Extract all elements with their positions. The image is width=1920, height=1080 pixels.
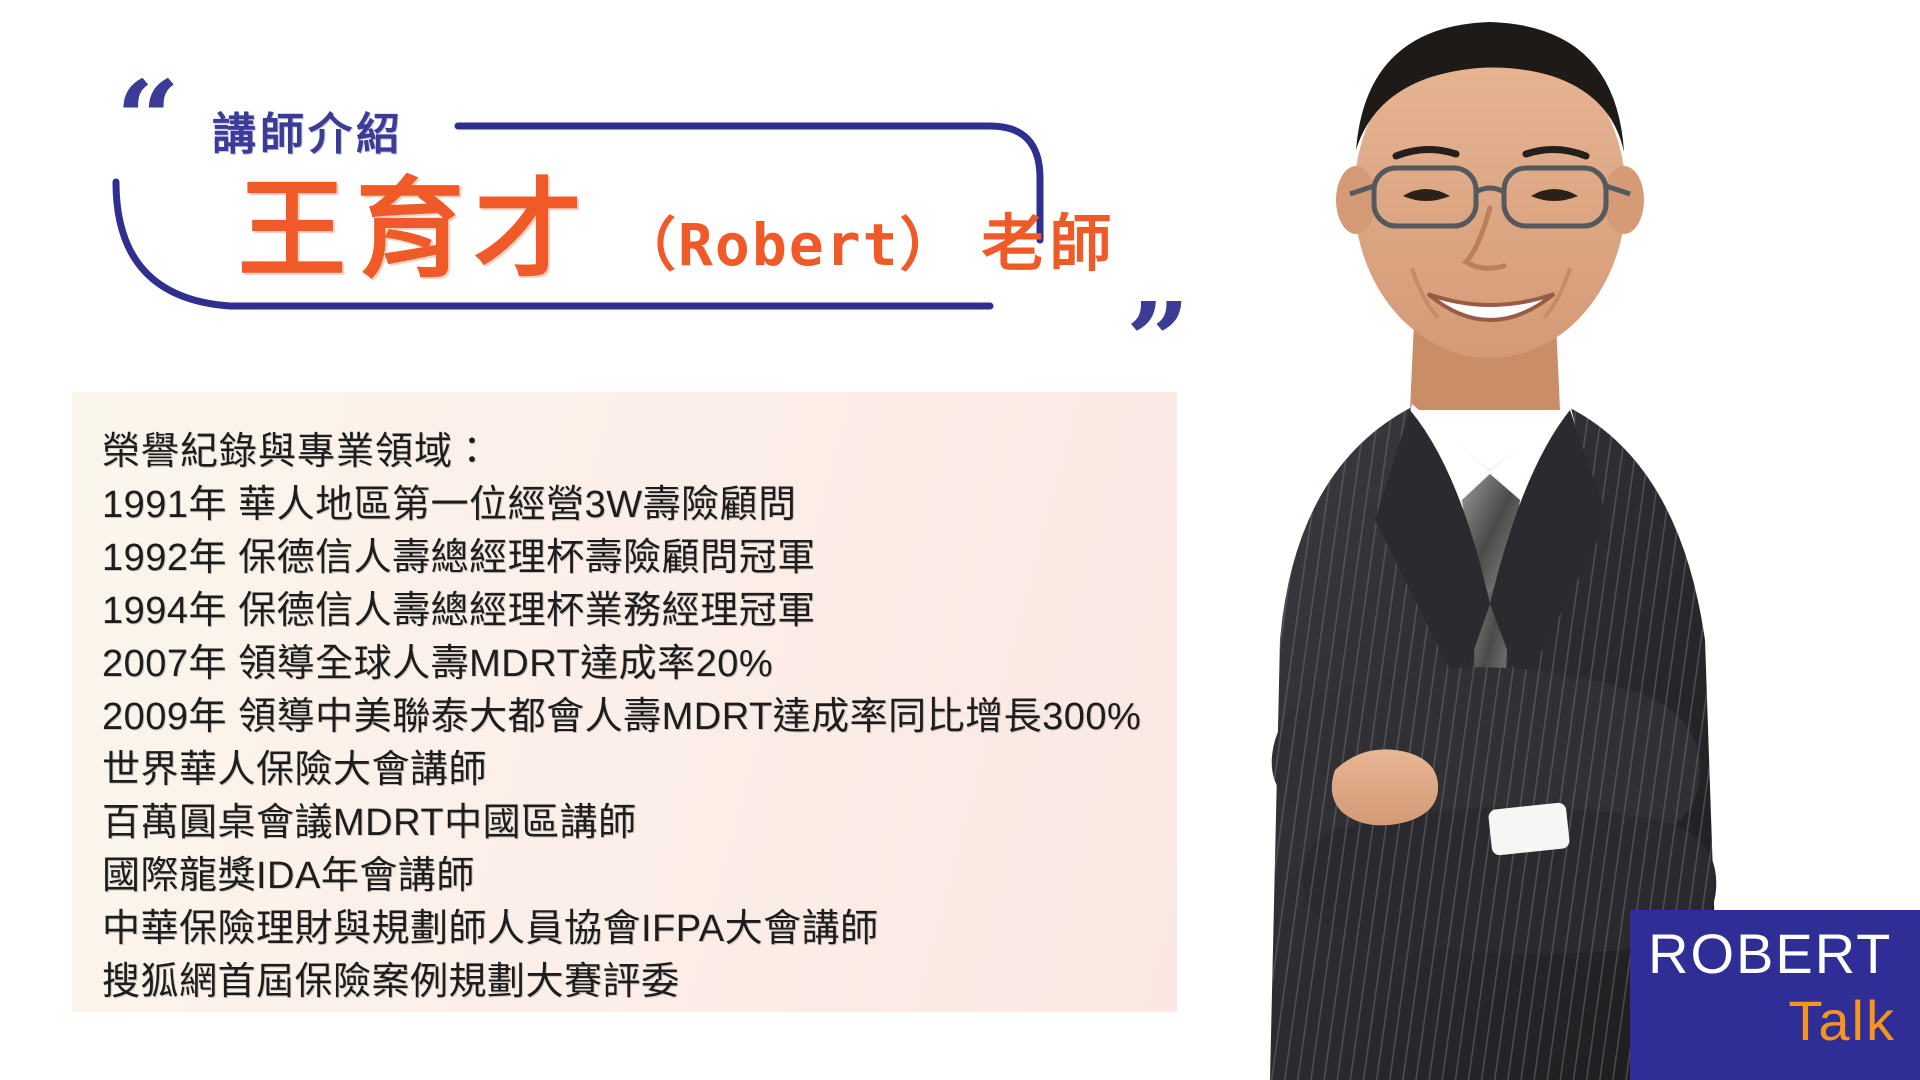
brand-logo-line2: Talk — [1648, 988, 1902, 1054]
quote-open-icon: “ — [116, 78, 178, 159]
credential-item: 1991年 華人地區第一位經營3W壽險顧問 — [102, 479, 1147, 532]
brand-logo-line1: ROBERT — [1648, 920, 1902, 988]
eyebrow-label: 講師介紹 — [212, 98, 404, 162]
speaker-name-row: 王育才 （Robert） 老師 — [238, 176, 1118, 284]
brand-logo: ROBERT Talk — [1630, 910, 1920, 1080]
speaker-name-chinese: 王育才 — [238, 176, 592, 284]
credential-item: 中華保險理財與規劃師人員協會IFPA大會講師 — [102, 903, 1147, 956]
slide-canvas: “ ” 講師介紹 王育才 （Robert） 老師 榮譽紀錄與專業領域： 1991… — [0, 0, 1920, 1080]
credential-item: 搜狐網首屆保險案例規劃大賽評委 — [102, 956, 1147, 1009]
credential-item: 2009年 領導中美聯泰大都會人壽MDRT達成率同比增長300% — [102, 691, 1147, 744]
credentials-panel: 榮譽紀錄與專業領域： 1991年 華人地區第一位經營3W壽險顧問 1992年 保… — [72, 392, 1177, 1012]
speaker-name-english: （Robert） — [618, 216, 960, 284]
speaker-title-suffix: 老師 — [982, 214, 1118, 284]
credential-item: 2007年 領導全球人壽MDRT達成率20% — [102, 638, 1147, 691]
credential-item: 1994年 保德信人壽總經理杯業務經理冠軍 — [102, 585, 1147, 638]
credential-item: 百萬圓桌會議MDRT中國區講師 — [102, 797, 1147, 850]
credential-item: 世界華人保險大會講師 — [102, 744, 1147, 797]
credential-item: 國際龍獎IDA年會講師 — [102, 850, 1147, 903]
credentials-heading: 榮譽紀錄與專業領域： — [102, 426, 1147, 479]
credential-item: 1992年 保德信人壽總經理杯壽險顧問冠軍 — [102, 532, 1147, 585]
